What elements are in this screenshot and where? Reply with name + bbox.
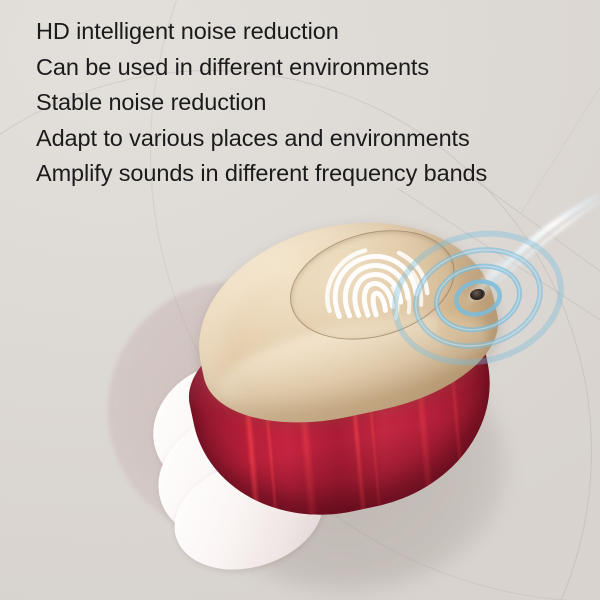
feature-line-4: Adapt to various places and environments xyxy=(36,121,588,157)
feature-line-3: Stable noise reduction xyxy=(36,85,588,121)
feature-line-5: Amplify sounds in different frequency ba… xyxy=(36,156,588,192)
feature-list: HD intelligent noise reduction Can be us… xyxy=(36,14,588,192)
feature-line-1: HD intelligent noise reduction xyxy=(36,14,588,50)
feature-line-2: Can be used in different environments xyxy=(36,50,588,86)
product-feature-image: HD intelligent noise reduction Can be us… xyxy=(0,0,600,600)
